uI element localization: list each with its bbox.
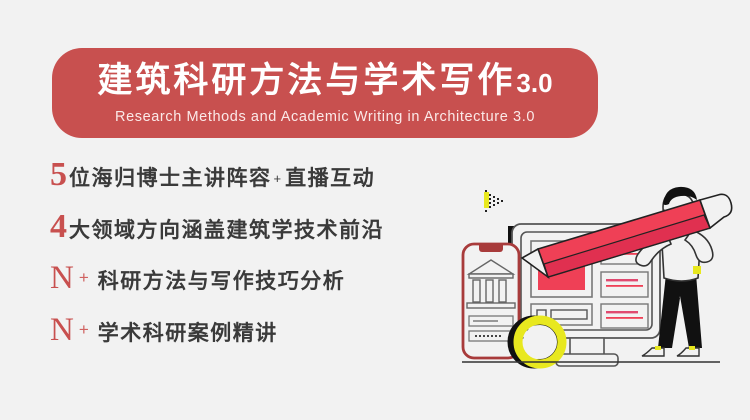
dotted-spark-decoration (484, 190, 503, 212)
bullet-plus: + (79, 321, 89, 338)
yellow-ring (512, 320, 562, 364)
bullet-plus: + (79, 269, 89, 286)
title-english: Research Methods and Academic Writing in… (115, 110, 535, 125)
bullet-text: 学术科研案例精讲 (98, 323, 278, 344)
bullet-text-tail: 直播互动 (285, 168, 375, 189)
feature-list: 5 位海归博士主讲阵容 + 直播互动 4 大领域方向涵盖建筑学技术前沿 N + … (50, 158, 470, 366)
bullet-text: 大领域方向涵盖建筑学技术前沿 (69, 220, 384, 241)
bullet-number: N (50, 314, 74, 347)
bullet-number: N (50, 262, 74, 295)
bullet-inline-plus: + (272, 172, 284, 185)
title-chinese: 建筑科研方法与学术写作 (97, 64, 515, 99)
screen-text-card-2 (601, 272, 648, 297)
screen-text-card-3 (601, 304, 648, 328)
list-item: N + 学术科研案例精讲 (50, 314, 470, 366)
bullet-number: 5 (50, 158, 67, 192)
title-version: 3.0 (516, 70, 552, 96)
list-item: 5 位海归博士主讲阵容 + 直播互动 (50, 158, 470, 210)
title-main-row: 建筑科研方法与学术写作3.0 (97, 64, 552, 99)
bullet-number: 4 (50, 210, 67, 244)
illustration-person-with-pencil-at-monitor (452, 182, 748, 378)
title-banner: 建筑科研方法与学术写作3.0 Research Methods and Acad… (52, 48, 598, 138)
list-item: N + 科研方法与写作技巧分析 (50, 262, 470, 314)
list-item: 4 大领域方向涵盖建筑学技术前沿 (50, 210, 470, 262)
bullet-text: 位海归博士主讲阵容 (69, 168, 272, 189)
poster-canvas: 建筑科研方法与学术写作3.0 Research Methods and Acad… (0, 0, 750, 420)
bullet-text: 科研方法与写作技巧分析 (98, 271, 346, 292)
